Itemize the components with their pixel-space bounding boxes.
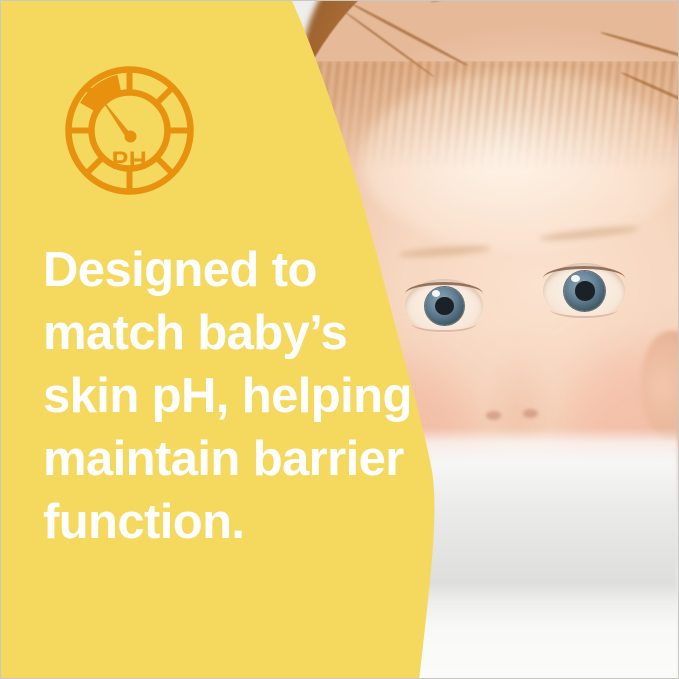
headline-line-4: maintain barrier bbox=[43, 428, 423, 491]
headline-line-2: match baby’s bbox=[43, 302, 423, 365]
headline-line-5: function. bbox=[43, 491, 423, 554]
headline-line-3: skin pH, helping bbox=[43, 365, 423, 428]
product-feature-card: PH Designed to match baby’s skin pH, hel… bbox=[0, 0, 679, 679]
ph-gauge-icon: PH bbox=[61, 62, 198, 199]
headline-line-1: Designed to bbox=[43, 239, 423, 302]
gauge-needle-pivot bbox=[125, 131, 137, 143]
gauge-ph-label: PH bbox=[112, 147, 148, 175]
headline: Designed to match baby’s skin pH, helpin… bbox=[43, 239, 423, 554]
